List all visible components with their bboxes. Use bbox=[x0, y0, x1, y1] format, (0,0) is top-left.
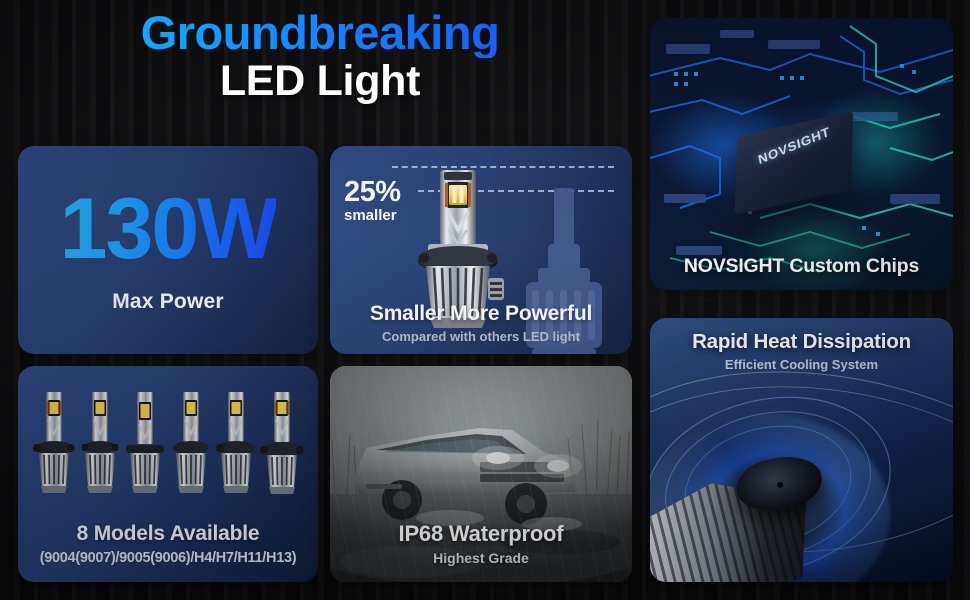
size-reduction-percent: 25% bbox=[344, 178, 401, 207]
card-smaller-more-powerful: 25% smaller bbox=[330, 146, 632, 354]
card-max-power: 130W Max Power bbox=[18, 146, 318, 354]
infographic-canvas: Groundbreaking LED Light 130W Max Power … bbox=[0, 0, 970, 600]
headline-line-1: Groundbreaking bbox=[0, 8, 640, 58]
models-title: 8 Models Available bbox=[18, 522, 318, 546]
bulb-lineup bbox=[24, 386, 312, 502]
bulb-thumb bbox=[123, 390, 167, 502]
bulb-thumb bbox=[78, 390, 122, 502]
smaller-subtitle: Compared with others LED light bbox=[330, 329, 632, 344]
ip68-subtitle: Highest Grade bbox=[330, 550, 632, 566]
models-codes: (9004(9007)/9005(9006)/H4/H7/H11/H13) bbox=[18, 550, 318, 566]
max-power-value: 130W bbox=[60, 186, 277, 272]
bulb-thumb bbox=[260, 390, 304, 502]
bulb-thumb bbox=[214, 390, 258, 502]
bulb-thumb bbox=[32, 390, 76, 502]
card-models-available: 8 Models Available (9004(9007)/9005(9006… bbox=[18, 366, 318, 582]
ip68-title: IP68 Waterproof bbox=[330, 521, 632, 547]
heat-subtitle: Efficient Cooling System bbox=[650, 357, 953, 372]
heat-title: Rapid Heat Dissipation bbox=[650, 330, 953, 354]
card-heat-dissipation: Rapid Heat Dissipation Efficient Cooling… bbox=[650, 318, 953, 582]
size-reduction-badge: 25% smaller bbox=[344, 178, 401, 225]
card-ip68-waterproof: IP68 Waterproof Highest Grade bbox=[330, 366, 632, 582]
max-power-label: Max Power bbox=[112, 290, 224, 314]
card-custom-chips: NOVSIGHT NOVSIGHT Custom Chips bbox=[650, 18, 953, 290]
headline-line-2: LED Light bbox=[0, 58, 640, 105]
bulb-thumb bbox=[169, 390, 213, 502]
size-reduction-word: smaller bbox=[344, 208, 401, 225]
page-title: Groundbreaking LED Light bbox=[0, 8, 640, 105]
chip-title: NOVSIGHT Custom Chips bbox=[650, 255, 953, 278]
smaller-title: Smaller More Powerful bbox=[330, 302, 632, 326]
